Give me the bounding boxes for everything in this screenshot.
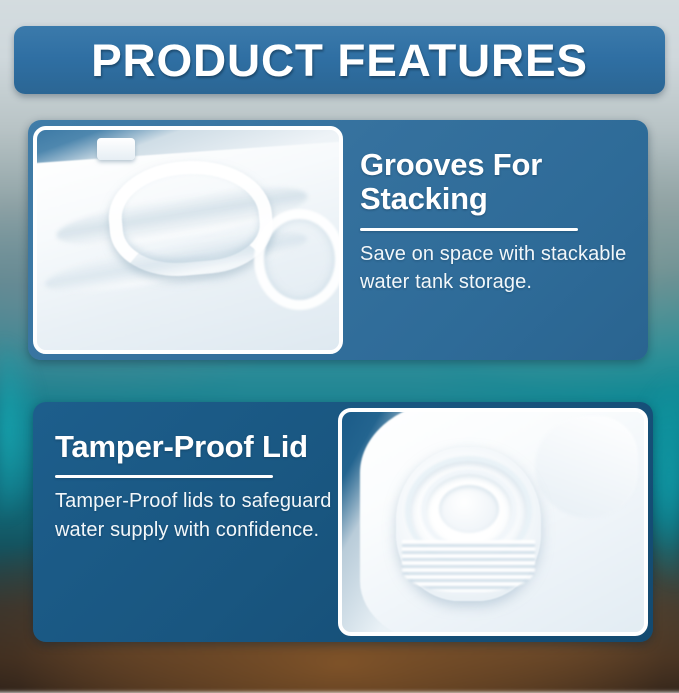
lid-threads-shape: [402, 540, 535, 593]
header-banner: PRODUCT FEATURES: [14, 26, 665, 94]
feature-text-tamper-proof-lid: Tamper-Proof Lid Tamper-Proof lids to sa…: [55, 430, 333, 544]
feature-card-tamper-proof-lid: Tamper-Proof Lid Tamper-Proof lids to sa…: [33, 402, 653, 642]
tank-cap-shape: [97, 138, 135, 160]
feature-title: Grooves For Stacking: [360, 148, 630, 217]
feature-image-grooves-for-stacking: [33, 126, 343, 354]
title-divider: [55, 475, 273, 478]
product-photo-water-tank-grooves: [37, 130, 339, 350]
feature-description: Tamper-Proof lids to safeguard water sup…: [55, 487, 333, 544]
title-divider: [360, 228, 578, 231]
feature-title: Tamper-Proof Lid: [55, 430, 333, 464]
feature-image-tamper-proof-lid: [338, 408, 648, 636]
feature-card-grooves-for-stacking: Grooves For Stacking Save on space with …: [28, 120, 648, 360]
product-photo-tamper-proof-lid: [342, 412, 644, 632]
feature-description: Save on space with stackable water tank …: [360, 240, 630, 297]
tank-shoulder-shape: [535, 416, 638, 517]
tank-lid-ring-shape: [254, 209, 339, 310]
feature-text-grooves-for-stacking: Grooves For Stacking Save on space with …: [360, 148, 630, 297]
lid-center-shape: [439, 485, 499, 533]
page-title: PRODUCT FEATURES: [91, 38, 588, 83]
